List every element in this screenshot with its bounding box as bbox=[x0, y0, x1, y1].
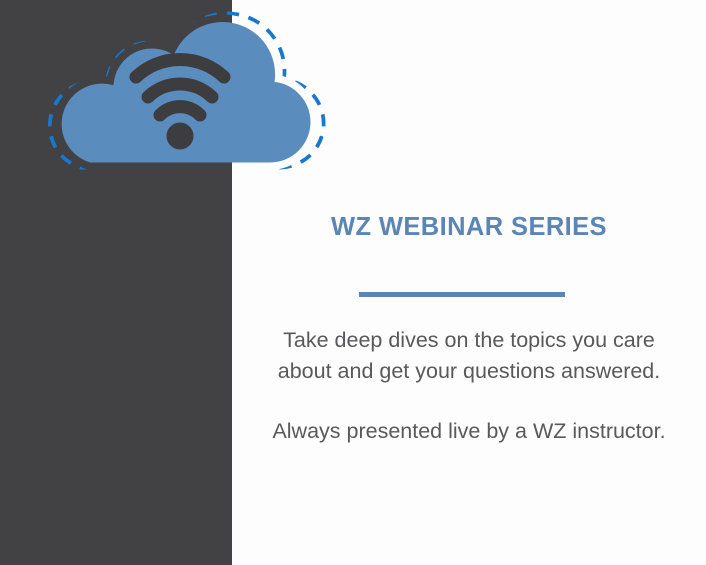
paragraph-2: Always presented live by a WZ instructor… bbox=[258, 416, 680, 447]
page-title: WZ WEBINAR SERIES bbox=[232, 215, 706, 241]
slide-canvas: WZ WEBINAR SERIES Take deep dives on the… bbox=[0, 0, 706, 565]
title-divider bbox=[359, 292, 565, 297]
body-copy: Take deep dives on the topics you care a… bbox=[258, 325, 680, 447]
paragraph-1: Take deep dives on the topics you care a… bbox=[258, 325, 680, 386]
content-column: WZ WEBINAR SERIES Take deep dives on the… bbox=[232, 0, 706, 565]
